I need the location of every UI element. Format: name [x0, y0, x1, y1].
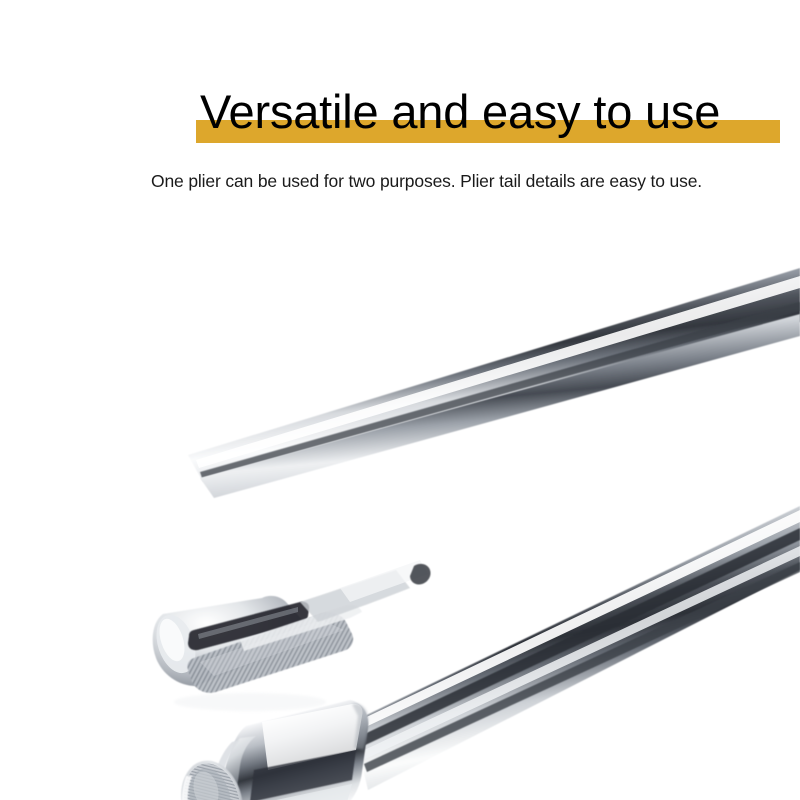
product-photo-illustration	[0, 210, 800, 800]
product-photo: Close-up of two chrome-plated plier tail…	[0, 210, 800, 800]
product-feature-banner: Versatile and easy to use One plier can …	[0, 0, 800, 800]
title-wrap: Versatile and easy to use	[196, 84, 796, 146]
page-title: Versatile and easy to use	[200, 84, 720, 140]
page-subtitle: One plier can be used for two purposes. …	[151, 169, 791, 193]
heading-block: Versatile and easy to use One plier can …	[0, 0, 800, 210]
